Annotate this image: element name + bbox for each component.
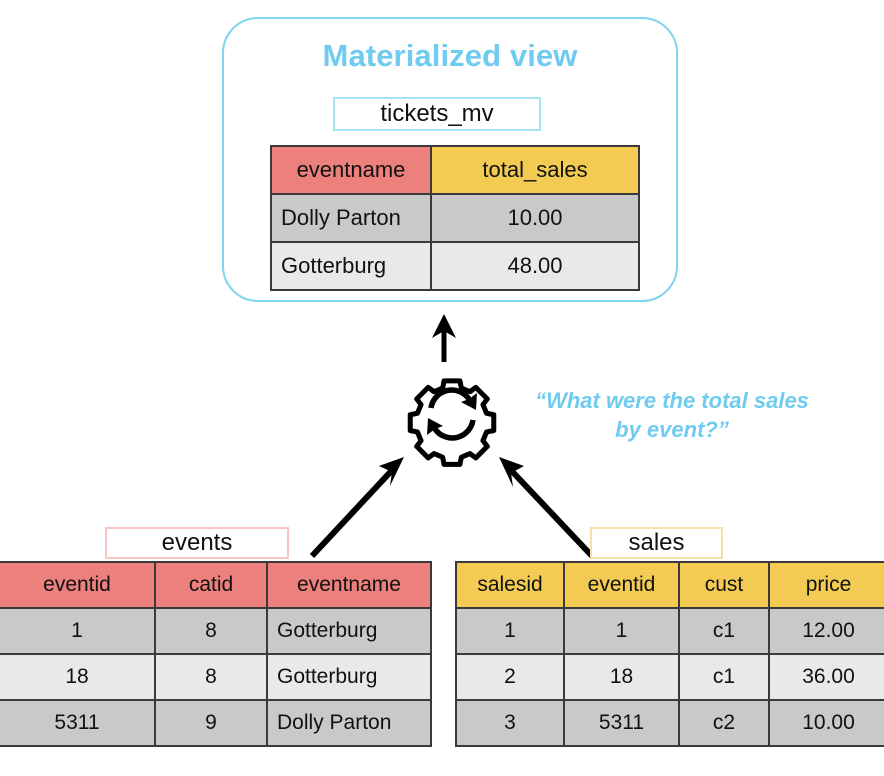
- cell-eventname: Gotterburg: [271, 242, 431, 290]
- cell-cust: c1: [679, 654, 769, 700]
- table-row: 5311 9 Dolly Parton: [0, 700, 431, 746]
- column-header-eventname: eventname: [271, 146, 431, 194]
- materialized-view-name: tickets_mv: [380, 100, 493, 128]
- cell-salesid: 2: [456, 654, 564, 700]
- column-header-eventid: eventid: [0, 562, 155, 608]
- cell-eventid: 5311: [0, 700, 155, 746]
- cell-eventid: 1: [0, 608, 155, 654]
- cell-total-sales: 10.00: [431, 194, 639, 242]
- table-header-row: salesid eventid cust price: [456, 562, 884, 608]
- cell-cust: c2: [679, 700, 769, 746]
- table-row: 1 8 Gotterburg: [0, 608, 431, 654]
- column-header-salesid: salesid: [456, 562, 564, 608]
- cell-eventname: Dolly Parton: [271, 194, 431, 242]
- column-header-eventname: eventname: [267, 562, 431, 608]
- cell-eventname: Dolly Parton: [267, 700, 431, 746]
- table-row: 2 18 c1 36.00: [456, 654, 884, 700]
- column-header-eventid: eventid: [564, 562, 679, 608]
- sales-table-name: sales: [628, 529, 684, 557]
- materialized-view-name-box: tickets_mv: [333, 97, 541, 131]
- question-annotation: “What were the total sales by event?”: [534, 386, 810, 444]
- table-row: 18 8 Gotterburg: [0, 654, 431, 700]
- column-header-price: price: [769, 562, 884, 608]
- cell-catid: 8: [155, 654, 267, 700]
- sales-table-name-box: sales: [590, 527, 723, 559]
- cell-eventid: 18: [564, 654, 679, 700]
- cell-catid: 8: [155, 608, 267, 654]
- cell-eventname: Gotterburg: [267, 608, 431, 654]
- events-table-name: events: [162, 529, 233, 557]
- cell-price: 36.00: [769, 654, 884, 700]
- gear-refresh-icon: [410, 381, 494, 465]
- sales-table: salesid eventid cust price 1 1 c1 12.00 …: [455, 561, 884, 747]
- events-table: eventid catid eventname 1 8 Gotterburg 1…: [0, 561, 432, 747]
- arrow-events-to-gear-icon: [312, 457, 404, 556]
- diagram-canvas: Materialized view tickets_mv eventname t…: [0, 0, 884, 776]
- cell-price: 12.00: [769, 608, 884, 654]
- table-header-row: eventname total_sales: [271, 146, 639, 194]
- column-header-total-sales: total_sales: [431, 146, 639, 194]
- cell-price: 10.00: [769, 700, 884, 746]
- cell-eventid: 5311: [564, 700, 679, 746]
- cell-eventname: Gotterburg: [267, 654, 431, 700]
- cell-salesid: 3: [456, 700, 564, 746]
- table-row: Dolly Parton 10.00: [271, 194, 639, 242]
- cell-cust: c1: [679, 608, 769, 654]
- table-header-row: eventid catid eventname: [0, 562, 431, 608]
- cell-catid: 9: [155, 700, 267, 746]
- arrow-sales-to-gear-icon: [499, 457, 592, 556]
- materialized-view-title: Materialized view: [222, 38, 678, 74]
- table-row: 1 1 c1 12.00: [456, 608, 884, 654]
- table-row: Gotterburg 48.00: [271, 242, 639, 290]
- cell-salesid: 1: [456, 608, 564, 654]
- materialized-view-table: eventname total_sales Dolly Parton 10.00…: [270, 145, 640, 291]
- arrow-up-icon: [432, 314, 456, 362]
- column-header-cust: cust: [679, 562, 769, 608]
- cell-total-sales: 48.00: [431, 242, 639, 290]
- cell-eventid: 1: [564, 608, 679, 654]
- table-row: 3 5311 c2 10.00: [456, 700, 884, 746]
- column-header-catid: catid: [155, 562, 267, 608]
- events-table-name-box: events: [105, 527, 289, 559]
- cell-eventid: 18: [0, 654, 155, 700]
